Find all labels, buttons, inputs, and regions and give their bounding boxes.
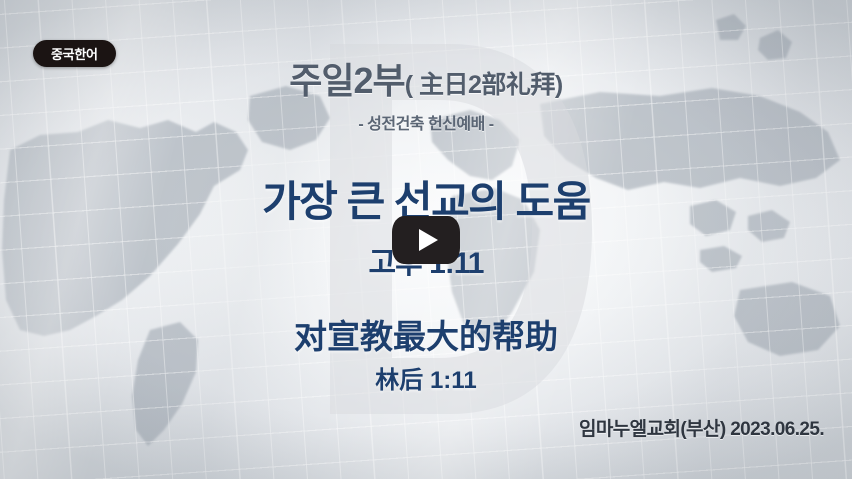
language-badge-label: 중국한어 xyxy=(51,44,98,63)
slide-verse-chinese: 林后 1:11 xyxy=(0,360,852,395)
video-thumbnail: 중국한어 주일2부( 主日2部礼拜) - 성전건축 헌신예배 - 가장 큰 선교… xyxy=(0,0,852,479)
language-badge[interactable]: 중국한어 xyxy=(33,40,116,67)
slide-footer-church-date: 임마누엘교회(부산) 2023.06.25. xyxy=(579,414,824,441)
slide-subtitle: - 성전건축 헌신예배 - xyxy=(0,110,852,134)
slide-headline-chinese: 对宣教最大的帮助 xyxy=(0,310,852,358)
slide-title: 주일2부( 主日2部礼拜) xyxy=(0,52,852,104)
slide-title-chinese: ( 主日2部礼拜) xyxy=(405,71,563,99)
play-button[interactable] xyxy=(392,216,460,264)
play-triangle-icon xyxy=(419,229,438,251)
slide-title-korean: 주일2부 xyxy=(289,60,404,101)
